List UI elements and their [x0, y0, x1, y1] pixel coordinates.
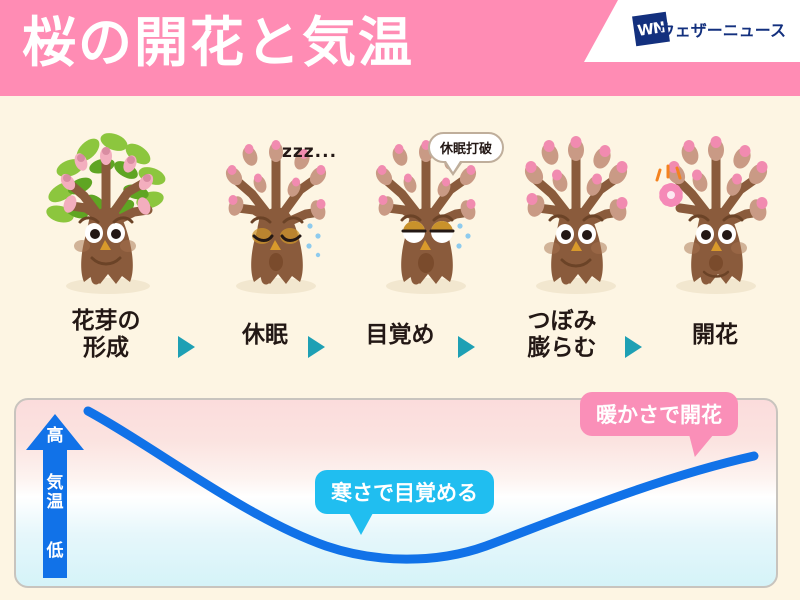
callout-cold-awakening: 寒さで目覚める	[315, 470, 494, 514]
stage-arrow-3	[458, 336, 475, 358]
stage-label-row: 花芽の 形成 休眠 目覚め つぼみ 膨らむ 開花	[0, 308, 800, 378]
tree-illustration-2: zzz...	[196, 100, 356, 310]
stage-label-1: 花芽の 形成	[31, 308, 181, 362]
infographic-canvas: 桜の開花と気温 WN ウェザーニュース	[0, 0, 800, 600]
tree-illustration-1	[26, 100, 186, 310]
callout-warm-text: 暖かさで開花	[596, 403, 722, 427]
blossom-tree-icon	[634, 100, 794, 310]
page-header: 桜の開花と気温 WN ウェザーニュース	[0, 0, 800, 96]
leafy-tree-icon	[26, 100, 186, 310]
callout-cold-text: 寒さで目覚める	[331, 481, 478, 505]
sleeping-tree-icon	[196, 100, 356, 310]
stage-label-5: 開花	[640, 322, 790, 349]
axis-label-name: 気 温	[26, 474, 84, 512]
axis-label-high: 高	[26, 427, 84, 446]
page-title: 桜の開花と気温	[22, 8, 414, 78]
tree-stage-illustrations: zzz...	[0, 100, 800, 310]
speech-bubble-dormancy-break: 休眠打破	[428, 132, 504, 163]
brand-name: ウェザーニュース	[659, 17, 786, 41]
stage-label-4: つぼみ 膨らむ	[487, 308, 637, 362]
callout-warm-bloom: 暖かさで開花	[580, 392, 738, 436]
callout-cold-tail	[349, 513, 373, 535]
tree-illustration-5	[634, 100, 794, 310]
tree-illustration-3: 休眠打破	[348, 100, 508, 310]
stage-label-3: 目覚め	[325, 322, 475, 349]
stage-arrow-2	[308, 336, 325, 358]
axis-label-low: 低	[26, 542, 84, 561]
temperature-axis-arrow: 高 気 温 低	[26, 414, 84, 578]
zzz-annotation: zzz...	[282, 142, 337, 162]
